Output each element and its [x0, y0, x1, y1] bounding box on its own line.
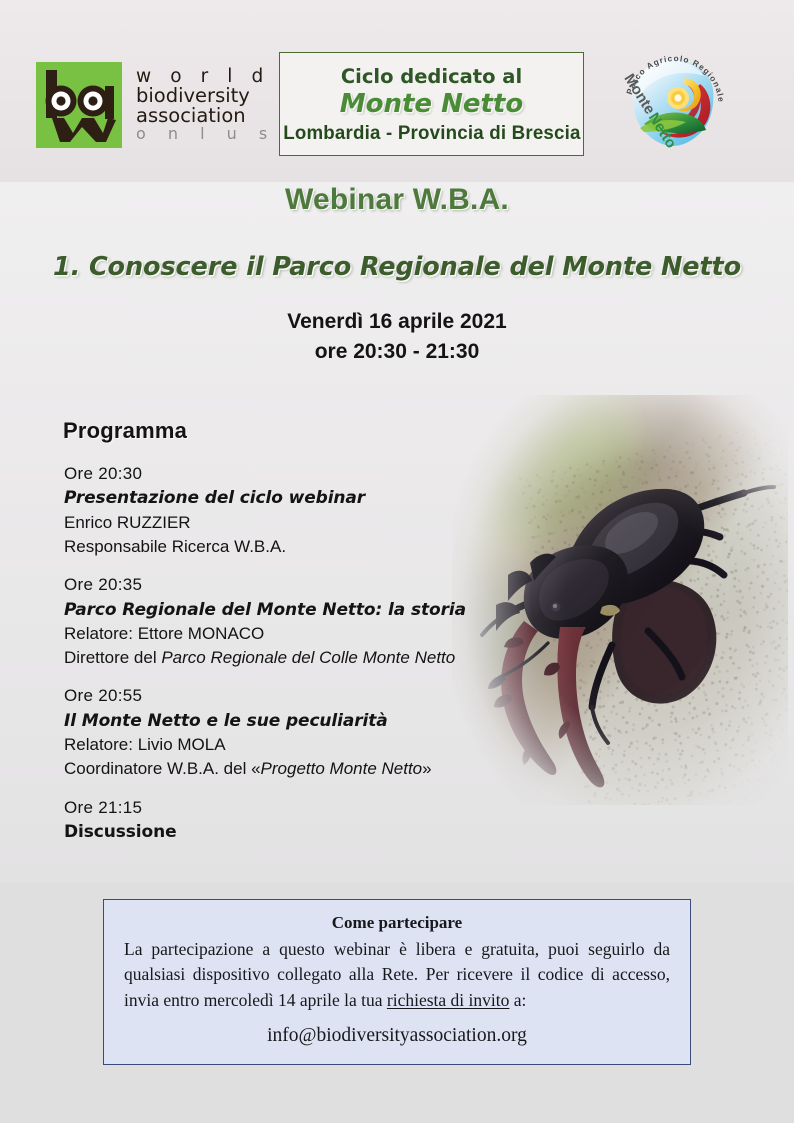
item-title: Discussione: [64, 820, 534, 844]
programma-item: Ore 20:30 Presentazione del ciclo webina…: [64, 462, 534, 559]
ciclo-line-1: Ciclo dedicato al: [341, 65, 522, 89]
partecipare-text-2: a:: [509, 990, 526, 1010]
wba-word-onlus: o n l u s: [136, 126, 276, 142]
item-time: Ore 21:15: [64, 796, 534, 820]
item-speaker: Enrico RUZZIER: [64, 511, 534, 535]
item-title: Il Monte Netto e le sue peculiarità: [64, 709, 534, 733]
contact-email[interactable]: info@biodiversityassociation.org: [124, 1021, 670, 1050]
wba-wordmark: w o r l d biodiversity association o n l…: [136, 68, 276, 143]
programma-item: Ore 21:15 Discussione: [64, 796, 534, 845]
header-row: w o r l d biodiversity association o n l…: [0, 38, 794, 170]
item-speaker: Relatore: Ettore MONACO: [64, 622, 534, 646]
monte-netto-park-logo[interactable]: Parco Agricolo Regionale Monte Netto: [614, 48, 732, 160]
page-title: 1. Conoscere il Parco Regionale del Mont…: [0, 252, 794, 282]
wba-logo[interactable]: w o r l d biodiversity association o n l…: [36, 62, 276, 148]
park-logo-icon: Parco Agricolo Regionale Monte Netto: [614, 48, 732, 160]
partecipare-body: La partecipazione a questo webinar è lib…: [124, 937, 670, 1015]
item-time: Ore 20:30: [64, 462, 534, 486]
programma-list: Ore 20:30 Presentazione del ciclo webina…: [64, 462, 534, 859]
wba-owl-mark-icon: [36, 62, 122, 148]
item-title: Parco Regionale del Monte Netto: la stor…: [64, 598, 534, 622]
ciclo-line-2-monte-netto: Monte Netto: [340, 89, 523, 120]
programma-heading: Programma: [63, 418, 187, 444]
wba-owl-glyph-icon: [36, 62, 122, 148]
event-datetime: Venerdì 16 aprile 2021 ore 20:30 - 21:30: [0, 307, 794, 367]
ciclo-line-3-region: Lombardia - Provincia di Brescia: [283, 121, 580, 145]
come-partecipare-box: Come partecipare La partecipazione a que…: [103, 899, 691, 1065]
partecipare-heading: Come partecipare: [124, 910, 670, 936]
poster-canvas: w o r l d biodiversity association o n l…: [0, 0, 794, 1123]
webinar-title: Webinar W.B.A.: [0, 183, 794, 217]
ciclo-dedicato-box: Ciclo dedicato al Monte Netto Lombardia …: [279, 52, 584, 156]
event-date: Venerdì 16 aprile 2021: [0, 307, 794, 337]
item-speaker: Relatore: Livio MOLA: [64, 733, 534, 757]
item-role: Direttore del Parco Regionale del Colle …: [64, 646, 534, 670]
item-role-prefix: Coordinatore W.B.A. del «: [64, 759, 261, 778]
item-title: Presentazione del ciclo webinar: [64, 486, 534, 510]
programma-item: Ore 20:35 Parco Regionale del Monte Nett…: [64, 573, 534, 670]
item-role-prefix: Responsabile Ricerca W.B.A.: [64, 537, 286, 556]
item-time: Ore 20:35: [64, 573, 534, 597]
item-role: Coordinatore W.B.A. del «Progetto Monte …: [64, 757, 534, 781]
richiesta-invito-link[interactable]: richiesta di invito: [387, 990, 509, 1010]
event-time: ore 20:30 - 21:30: [0, 337, 794, 367]
item-role-italic: Parco Regionale del Colle Monte Netto: [161, 648, 455, 667]
item-role-italic: Progetto Monte Netto: [261, 759, 423, 778]
programma-item: Ore 20:55 Il Monte Netto e le sue peculi…: [64, 684, 534, 781]
item-role-prefix: Direttore del: [64, 648, 161, 667]
item-role-suffix: »: [422, 759, 431, 778]
item-role: Responsabile Ricerca W.B.A.: [64, 535, 534, 559]
item-time: Ore 20:55: [64, 684, 534, 708]
